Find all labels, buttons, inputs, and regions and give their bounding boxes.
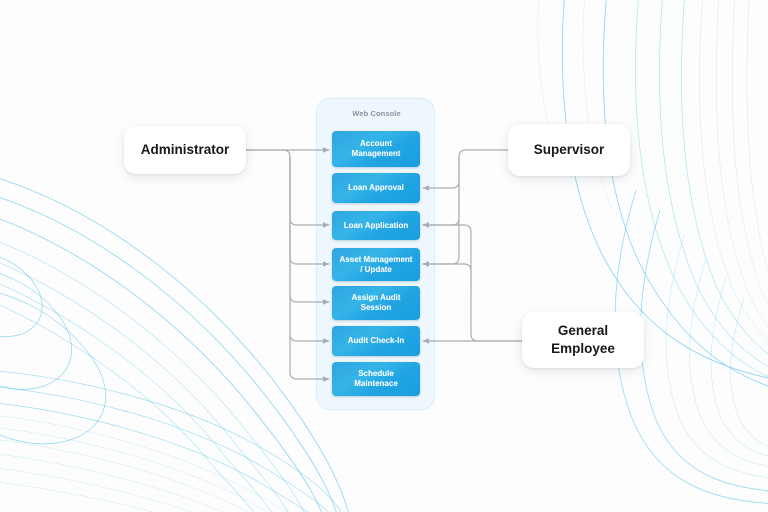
service-loan-application[interactable]: Loan Application [332,211,420,240]
service-loan-approval[interactable]: Loan Approval [332,173,420,203]
service-label: Loan Approval [348,183,404,193]
link-general-employee-asset-management [423,225,522,341]
service-schedule-maintenance[interactable]: Schedule Maintenace [332,362,420,396]
service-audit-check-in[interactable]: Audit Check-In [332,326,420,356]
service-assign-audit-session[interactable]: Assign Audit Session [332,286,420,320]
service-label: Schedule Maintenace [354,369,398,389]
actor-label: Administrator [141,141,230,159]
service-label: Account Management [352,139,401,159]
actor-label-line1: General [558,323,608,338]
service-label: Asset Management / Update [340,255,413,275]
actor-card-administrator[interactable]: Administrator [124,126,246,174]
service-label-line1: Account [360,139,392,148]
actor-label-line2: Employee [551,341,615,356]
service-label-line1: Schedule [358,369,394,378]
actor-label: Supervisor [534,141,605,159]
diagram-canvas: Web Console Account Management Loan Appr… [0,0,768,512]
actor-card-general-employee[interactable]: General Employee [522,312,644,368]
service-label: Audit Check-In [348,336,404,346]
web-console-title: Web Console [317,109,436,118]
service-asset-management[interactable]: Asset Management / Update [332,248,420,281]
link-supervisor-loan-approval [423,150,508,188]
actor-card-supervisor[interactable]: Supervisor [508,124,630,176]
service-label-line1: Asset Management [340,255,413,264]
service-label: Assign Audit Session [351,293,400,313]
service-account-management[interactable]: Account Management [332,131,420,167]
service-label-line2: / Update [360,265,392,274]
service-label-line2: Session [361,303,392,312]
service-label-line2: Management [352,149,401,158]
service-label-line1: Assign Audit [351,293,400,302]
service-label: Loan Application [344,221,409,231]
service-label-line2: Maintenace [354,379,398,388]
actor-label: General Employee [551,322,615,357]
